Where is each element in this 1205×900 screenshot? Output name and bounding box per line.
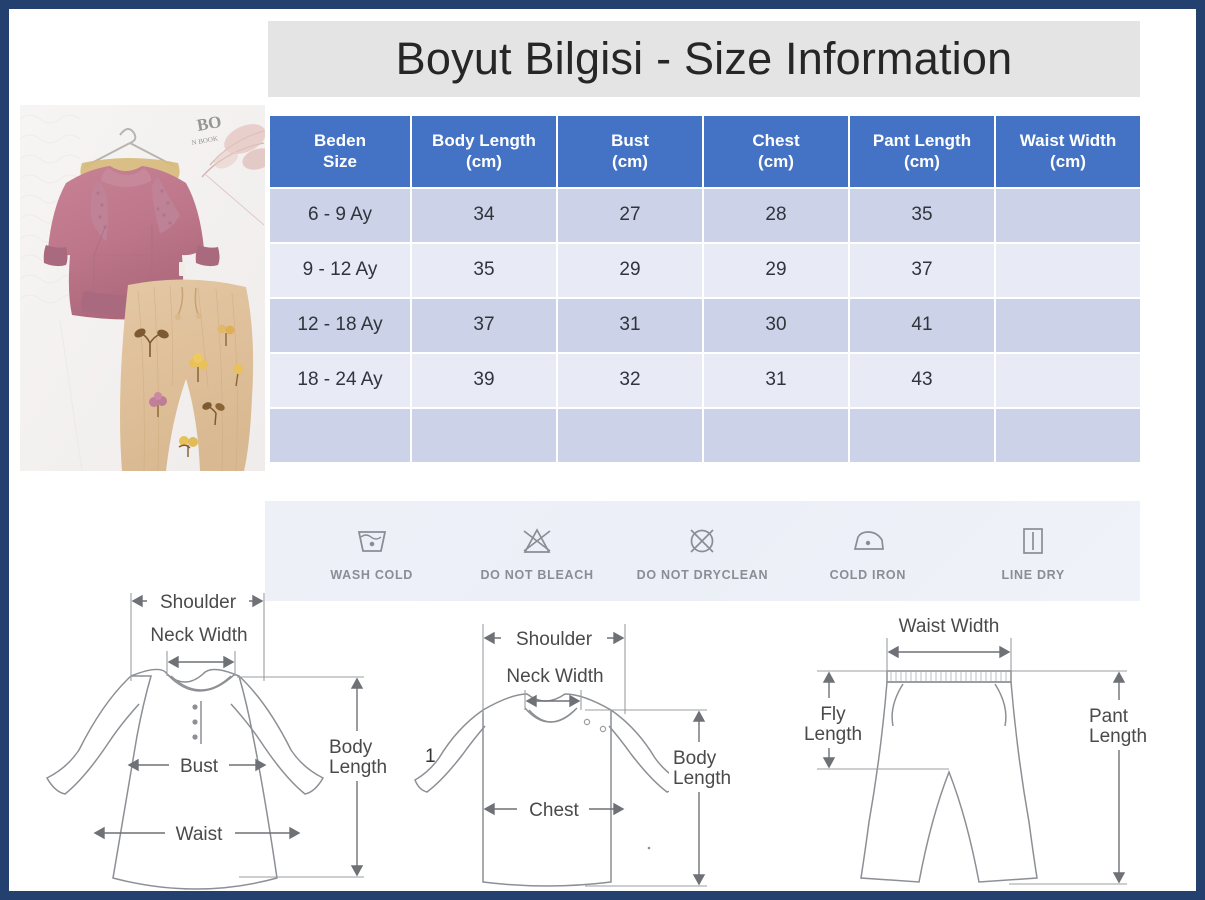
cell-waist-width [996, 189, 1140, 242]
table-header-row: Beden Size Body Length (cm) Bust (cm) Ch… [270, 116, 1140, 187]
cold-iron-icon [850, 521, 886, 561]
dress-label-shoulder: Shoulder [160, 592, 237, 613]
pants-label-fly-length-line1: Fly [820, 704, 846, 725]
line-dry-icon [1015, 521, 1051, 561]
care-item-do-not-bleach: DO NOT BLEACH [462, 521, 612, 582]
sweatshirt-label-chest: Chest [529, 800, 579, 821]
do-not-bleach-icon [519, 521, 555, 561]
table-row: 12 - 18 Ay 37 31 30 41 [270, 299, 1140, 352]
pants-measurement-diagram: Waist Width Fly Length [797, 614, 1202, 899]
column-header-size: Beden Size [270, 116, 410, 187]
care-label-do-not-dryclean: DO NOT DRYCLEAN [637, 568, 769, 582]
cell-pant-length: 35 [850, 189, 994, 242]
product-photo: BO N BOOK [20, 105, 265, 471]
column-header-pant-length: Pant Length (cm) [850, 116, 994, 187]
dress-measurement-diagram: Shoulder Neck Width Bust [19, 581, 419, 899]
cell-size: 9 - 12 Ay [270, 244, 410, 297]
cell-chest: 31 [704, 354, 848, 407]
column-header-chest: Chest (cm) [704, 116, 848, 187]
pants-label-pant-length-line2: Length [1089, 726, 1147, 747]
column-header-waist-width: Waist Width (cm) [996, 116, 1140, 187]
page-title-band: Boyut Bilgisi - Size Information [268, 21, 1140, 97]
cell-pant-length: 43 [850, 354, 994, 407]
wash-cold-icon [354, 521, 390, 561]
cell-size: 12 - 18 Ay [270, 299, 410, 352]
cell-chest: 28 [704, 189, 848, 242]
care-item-wash-cold: WASH COLD [297, 521, 447, 582]
cell-body-length: 35 [412, 244, 556, 297]
column-header-bust: Bust (cm) [558, 116, 702, 187]
table-row: 9 - 12 Ay 35 29 29 37 [270, 244, 1140, 297]
cell-waist-width [996, 409, 1140, 462]
sweatshirt-label-body-length-line2: Length [673, 768, 731, 789]
cell-pant-length [850, 409, 994, 462]
sweatshirt-label-neck-width: Neck Width [506, 666, 603, 687]
column-header-size-line1: Beden [272, 130, 408, 151]
sweatshirt-measurement-diagram: 1 Shoulder Neck Width [409, 614, 799, 899]
table-row-empty [270, 409, 1140, 462]
column-header-pant-length-line1: Pant Length [852, 130, 992, 151]
dress-label-neck-width: Neck Width [150, 625, 247, 646]
care-item-line-dry: LINE DRY [958, 521, 1108, 582]
care-item-cold-iron: COLD IRON [793, 521, 943, 582]
page-title: Boyut Bilgisi - Size Information [396, 33, 1013, 85]
cell-waist-width [996, 354, 1140, 407]
care-label-line-dry: LINE DRY [1002, 568, 1065, 582]
sweatshirt-label-shoulder: Shoulder [516, 629, 593, 650]
cell-chest [704, 409, 848, 462]
column-header-body-length-line1: Body Length [414, 130, 554, 151]
care-label-cold-iron: COLD IRON [830, 568, 906, 582]
table-row: 18 - 24 Ay 39 32 31 43 [270, 354, 1140, 407]
cell-body-length [412, 409, 556, 462]
cell-size: 18 - 24 Ay [270, 354, 410, 407]
cell-pant-length: 37 [850, 244, 994, 297]
cell-bust: 27 [558, 189, 702, 242]
cell-bust: 32 [558, 354, 702, 407]
care-label-do-not-bleach: DO NOT BLEACH [480, 568, 593, 582]
pants-label-fly-length-line2: Length [804, 724, 862, 745]
dress-label-body-length-line2: Length [329, 757, 387, 778]
cell-waist-width [996, 299, 1140, 352]
column-header-chest-line1: Chest [706, 130, 846, 151]
cell-waist-width [996, 244, 1140, 297]
column-header-waist-width-line1: Waist Width [998, 130, 1138, 151]
table-row: 6 - 9 Ay 34 27 28 35 [270, 189, 1140, 242]
do-not-dryclean-icon [684, 521, 720, 561]
cell-chest: 29 [704, 244, 848, 297]
cell-body-length: 34 [412, 189, 556, 242]
sweatshirt-label-body-length-line1: Body [673, 748, 717, 769]
care-label-wash-cold: WASH COLD [330, 568, 413, 582]
size-table: Beden Size Body Length (cm) Bust (cm) Ch… [268, 114, 1142, 464]
cell-bust: 31 [558, 299, 702, 352]
column-header-body-length-line2: (cm) [414, 151, 554, 172]
column-header-size-line2: Size [272, 151, 408, 172]
cell-size: 6 - 9 Ay [270, 189, 410, 242]
column-header-waist-width-line2: (cm) [998, 151, 1138, 172]
cell-bust: 29 [558, 244, 702, 297]
sweatshirt-index-label: 1 [425, 746, 436, 767]
dress-label-waist: Waist [176, 824, 224, 845]
column-header-bust-line1: Bust [560, 130, 700, 151]
column-header-body-length: Body Length (cm) [412, 116, 556, 187]
column-header-bust-line2: (cm) [560, 151, 700, 172]
dress-label-body-length-line1: Body [329, 737, 373, 758]
cell-body-length: 39 [412, 354, 556, 407]
size-information-page: Boyut Bilgisi - Size Information [0, 0, 1205, 900]
pants-label-pant-length-line1: Pant [1089, 706, 1129, 727]
care-item-do-not-dryclean: DO NOT DRYCLEAN [627, 521, 777, 582]
cell-pant-length: 41 [850, 299, 994, 352]
cell-size [270, 409, 410, 462]
column-header-chest-line2: (cm) [706, 151, 846, 172]
column-header-pant-length-line2: (cm) [852, 151, 992, 172]
cell-chest: 30 [704, 299, 848, 352]
pants-label-waist-width: Waist Width [899, 616, 1000, 637]
dress-label-bust: Bust [180, 756, 219, 777]
cell-bust [558, 409, 702, 462]
cell-body-length: 37 [412, 299, 556, 352]
